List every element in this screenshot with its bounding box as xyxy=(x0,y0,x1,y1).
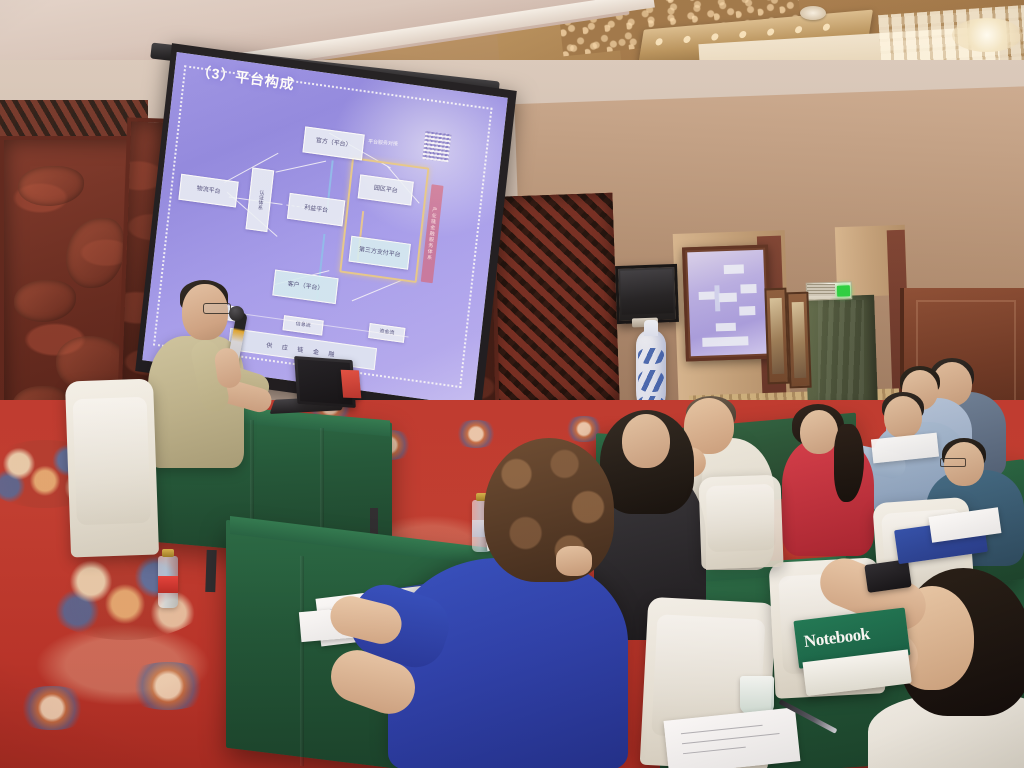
wall-tv-monitor[interactable] xyxy=(615,264,679,324)
exit-sign-grille xyxy=(807,284,835,296)
attendee-curly-hair xyxy=(484,438,614,582)
name-card xyxy=(341,370,362,399)
wood-lattice-top xyxy=(0,100,148,136)
exit-sign-light-icon xyxy=(837,285,850,296)
notebook-brand-label: Notebook xyxy=(803,624,871,652)
ceiling-light xyxy=(952,18,1022,52)
secondary-projection-screen xyxy=(682,245,772,362)
water-bottle-floor[interactable] xyxy=(158,556,178,608)
notebook[interactable]: Notebook xyxy=(793,607,914,702)
chair-presenter[interactable] xyxy=(65,379,159,558)
chair-cover-back[interactable] xyxy=(698,475,783,570)
attendee-neck xyxy=(556,546,592,576)
slide-qr-code xyxy=(422,131,451,162)
carved-wood-screen-right xyxy=(482,193,619,407)
presenter-glasses xyxy=(203,303,231,314)
hanging-scroll-right xyxy=(786,292,811,389)
paper-cup[interactable] xyxy=(740,676,774,714)
conference-room-photo: （3）平台构成 平台服务对接 官方（平台） 物流平台 认证体系 xyxy=(0,0,1024,768)
table-leg xyxy=(205,550,216,592)
attendee-glasses xyxy=(940,458,966,467)
secondary-screen-surface xyxy=(687,250,767,357)
smoke-detector-icon xyxy=(800,6,826,20)
wall-drape-folds xyxy=(818,300,864,404)
